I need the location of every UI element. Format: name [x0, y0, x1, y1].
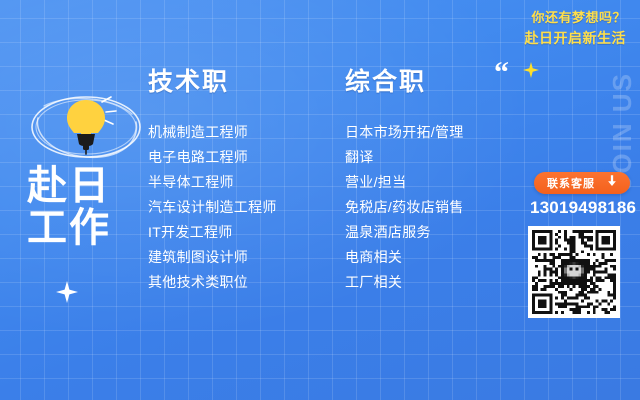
list-item: 电商相关: [345, 245, 464, 270]
sparkle-icon: [56, 281, 78, 303]
contact-support-button[interactable]: 联系客服: [534, 172, 630, 194]
poster-canvas: 你还有梦想吗？ 赴日开启新生活 JOIN US “: [0, 0, 640, 400]
column-heading-technical: 技术职: [148, 62, 277, 98]
job-list-general: 日本市场开拓/管理 翻译 营业/担当 免税店/药妆店销售 温泉酒店服务 电商相关…: [345, 120, 464, 295]
list-item: IT开发工程师: [148, 220, 277, 245]
sparkle-icon: [523, 62, 539, 78]
list-item: 翻译: [345, 145, 464, 170]
list-item: 建筑制图设计师: [148, 245, 277, 270]
phone-number: 13019498186: [530, 198, 634, 218]
list-item: 营业/担当: [345, 170, 464, 195]
list-item: 工厂相关: [345, 270, 464, 295]
slogan-line-1: 你还有梦想吗？: [531, 7, 626, 26]
job-list-technical: 机械制造工程师 电子电路工程师 半导体工程师 汽车设计制造工程师 IT开发工程师…: [148, 120, 277, 295]
page-title-line-2: 工作: [27, 208, 147, 250]
list-item: 电子电路工程师: [148, 145, 277, 170]
list-item: 其他技术类职位: [148, 270, 277, 295]
contact-support-label: 联系客服: [547, 175, 595, 191]
qr-code[interactable]: [528, 226, 620, 318]
column-heading-general: 综合职: [345, 62, 464, 98]
job-column-technical: 技术职 机械制造工程师 电子电路工程师 半导体工程师 汽车设计制造工程师 IT开…: [148, 62, 277, 295]
quote-mark-icon: “: [494, 58, 509, 88]
list-item: 汽车设计制造工程师: [148, 195, 277, 220]
list-item: 免税店/药妆店销售: [345, 195, 464, 220]
qr-code-image: [532, 230, 616, 314]
job-column-general: 综合职 日本市场开拓/管理 翻译 营业/担当 免税店/药妆店销售 温泉酒店服务 …: [345, 62, 464, 295]
slogan-line-2: 赴日开启新生活: [525, 28, 627, 48]
list-item: 温泉酒店服务: [345, 220, 464, 245]
page-title: 赴日 工作: [27, 166, 147, 249]
arrow-down-icon: [607, 174, 617, 192]
list-item: 机械制造工程师: [148, 120, 277, 145]
page-title-line-1: 赴日: [27, 166, 147, 208]
list-item: 日本市场开拓/管理: [345, 120, 464, 145]
list-item: 半导体工程师: [148, 170, 277, 195]
lightbulb-icon: [24, 82, 148, 168]
